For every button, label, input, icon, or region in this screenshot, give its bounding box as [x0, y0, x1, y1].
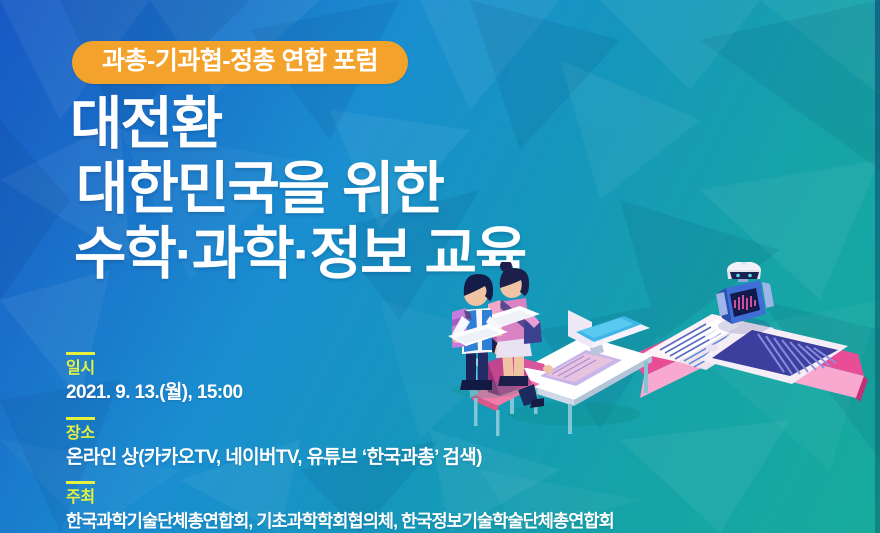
- info-value-date: 2021. 9. 13.(월), 15:00: [66, 381, 614, 406]
- robot-figure: [716, 262, 774, 334]
- info-label-venue: 장소: [66, 417, 95, 444]
- info-group-host: 주최 한국과학기술단체총연합회, 기초과학학회협의체, 한국정보기술학술단체총연…: [66, 481, 614, 533]
- page-title: 대전환 대한민국을 위한 수학·과학·정보 교육: [70, 92, 525, 287]
- event-info: 일시 2021. 9. 13.(월), 15:00 장소 온라인 상(카카오TV…: [66, 352, 614, 533]
- info-value-venue: 온라인 상(카카오TV, 네이버TV, 유튜브 ‘한국과총’ 검색): [66, 446, 614, 471]
- info-value-host: 한국과학기술단체총연합회, 기초과학학회협의체, 한국정보기술학술단체총연합회: [66, 510, 614, 533]
- open-book-group: [630, 314, 874, 402]
- info-group-date: 일시 2021. 9. 13.(월), 15:00: [66, 352, 614, 406]
- info-label-date: 일시: [66, 352, 95, 379]
- info-label-host: 주최: [66, 481, 95, 508]
- headline-line-1: 대전환: [70, 92, 525, 157]
- forum-badge: 과총-기과협-정총 연합 포럼: [72, 41, 408, 84]
- headline-line-3: 수학·과학·정보 교육: [70, 222, 525, 287]
- poster-canvas: 과총-기과협-정총 연합 포럼 대전환 대한민국을 위한 수학·과학·정보 교육…: [0, 0, 880, 533]
- headline-line-2: 대한민국을 위한: [70, 157, 525, 222]
- right-edge-strip: [875, 0, 880, 533]
- info-group-venue: 장소 온라인 상(카카오TV, 네이버TV, 유튜브 ‘한국과총’ 검색): [66, 417, 614, 471]
- badge-row: 과총-기과협-정총 연합 포럼: [72, 41, 408, 84]
